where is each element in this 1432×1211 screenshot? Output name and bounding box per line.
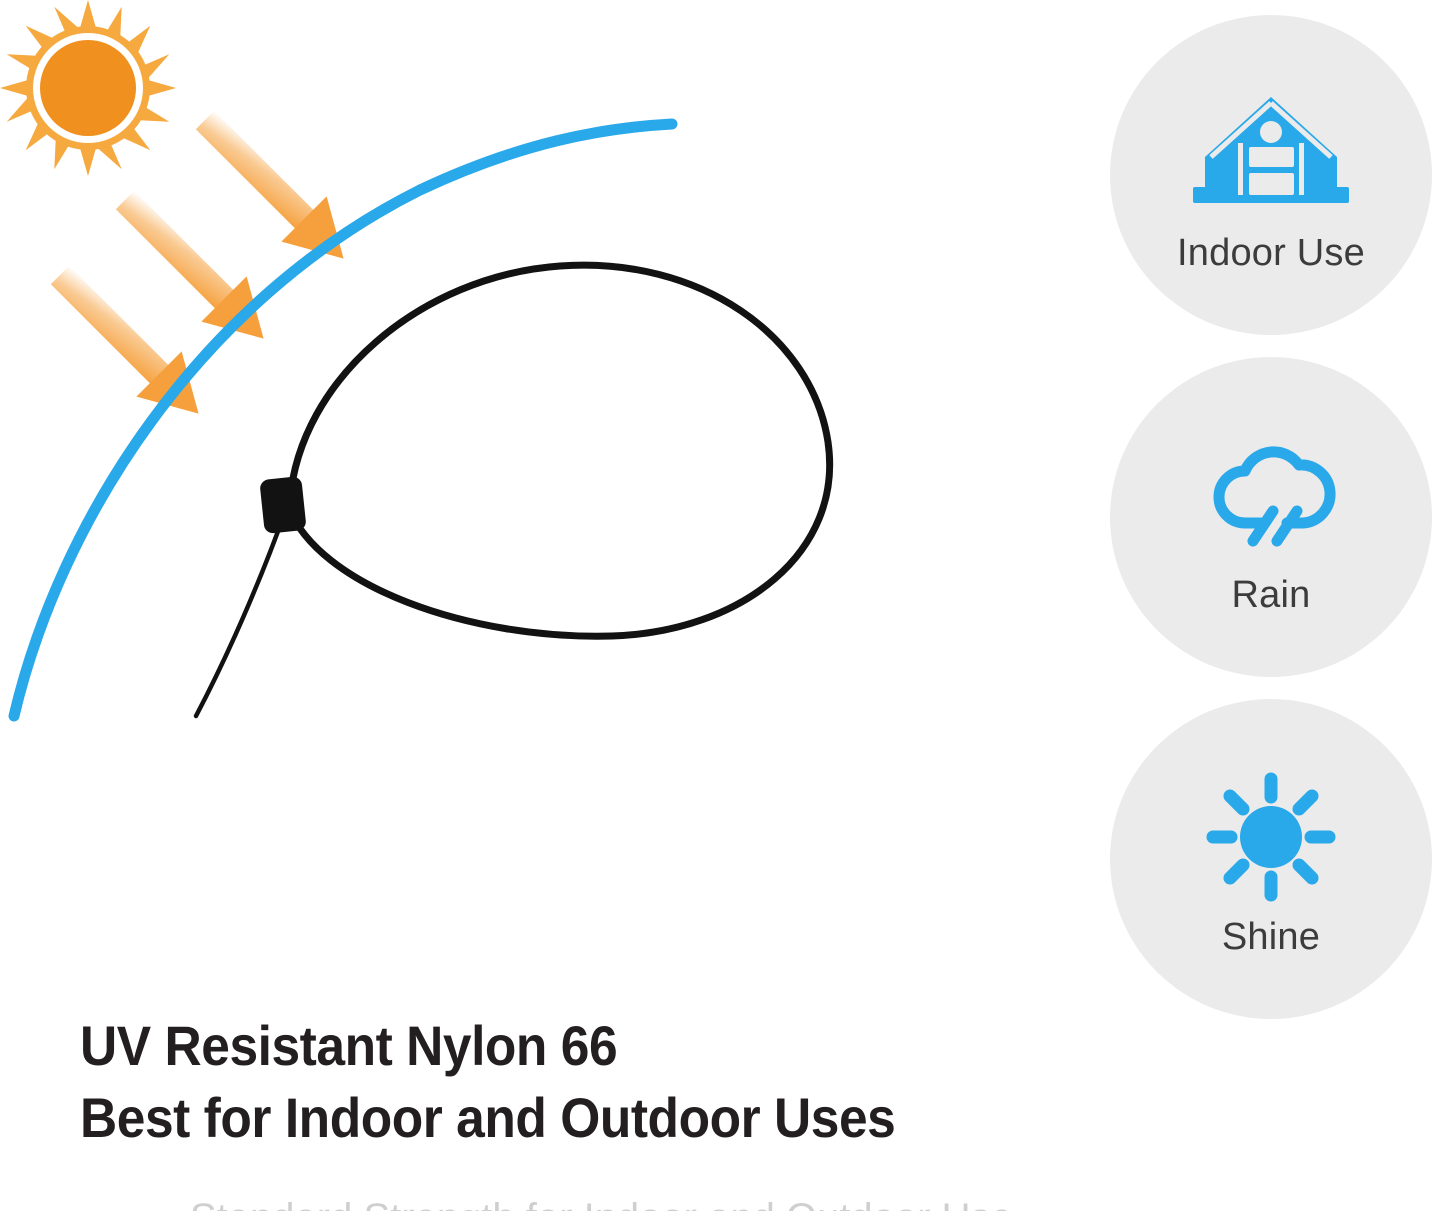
sun-icon	[0, 0, 176, 176]
product-infographic: Indoor Use Rain	[0, 0, 1432, 1211]
feature-badge-shine[interactable]: Shine	[1110, 699, 1432, 1019]
clipped-caption-text: Standard Strength for Indoor and Outdoor…	[190, 1198, 1190, 1211]
feature-badge-list: Indoor Use Rain	[1110, 0, 1432, 1020]
house-icon	[1187, 78, 1355, 228]
feature-badge-indoor-use[interactable]: Indoor Use	[1110, 15, 1432, 335]
sun-shine-icon	[1187, 762, 1355, 912]
headline-line-1: UV Resistant Nylon 66	[80, 1010, 1000, 1082]
headline-block: UV Resistant Nylon 66 Best for Indoor an…	[80, 1010, 1080, 1154]
feature-badge-label: Rain	[1232, 576, 1311, 614]
headline-line-2: Best for Indoor and Outdoor Uses	[80, 1082, 1000, 1154]
uv-ray-arrow	[182, 97, 366, 281]
uv-shield-arc	[14, 124, 672, 716]
feature-badge-label: Shine	[1222, 918, 1320, 956]
cable-tie-illustration	[196, 265, 830, 716]
clipped-caption: Standard Strength for Indoor and Outdoor…	[190, 1198, 1190, 1211]
feature-badge-rain[interactable]: Rain	[1110, 357, 1432, 677]
uv-resistance-illustration	[0, 0, 1100, 1020]
feature-badge-label: Indoor Use	[1177, 234, 1365, 272]
rain-cloud-icon	[1187, 420, 1355, 570]
